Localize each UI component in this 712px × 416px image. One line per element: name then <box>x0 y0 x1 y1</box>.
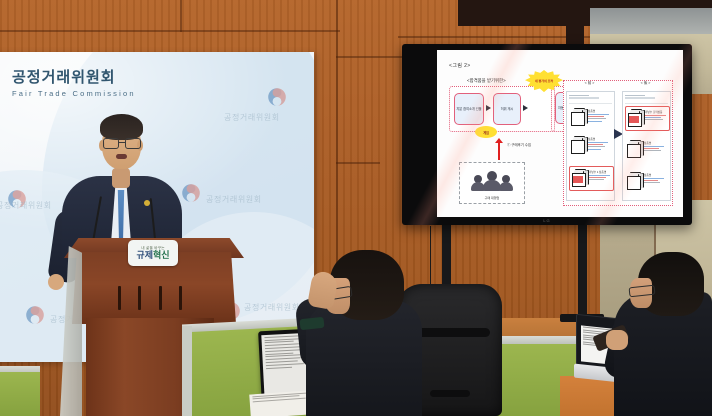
after-panel: 리뷰수 조작상품 상품명 상품명 <box>622 91 671 201</box>
glasses-icon <box>103 138 140 148</box>
product-row-highlighted: 리뷰수 조작상품 <box>625 106 670 131</box>
panel-header <box>569 94 612 104</box>
product-row: 상품명 <box>625 138 668 161</box>
people-group-icon <box>471 171 513 191</box>
placard-main-text: 규제혁신 <box>136 251 169 260</box>
pill-badge: 게임 <box>475 126 497 138</box>
banner-watermark: 공정거래위원회 <box>0 200 52 211</box>
speaker-mouth <box>116 154 127 159</box>
placard-main-a: 규제 <box>136 250 153 260</box>
flow-arrow-icon <box>486 105 491 111</box>
taegeuk-emblem <box>180 182 202 204</box>
product-box-icon <box>627 172 642 188</box>
flow-step-box: 지분 참여소개 선물 <box>454 93 484 125</box>
product-row-highlighted: 리뷰수 1 상품명 <box>569 166 614 191</box>
slide-canvas: <그림 2> <합격품을 받기위한> 지분 참여소개 선물 허위 게시 자동 송… <box>437 50 683 217</box>
taegeuk-emblem <box>24 304 46 326</box>
desk-post <box>182 326 192 416</box>
product-box-icon <box>571 108 586 124</box>
product-text: 상품명 <box>644 173 667 185</box>
product-text: 상품명 <box>588 137 611 151</box>
before-panel: 상품명 상품명 리뷰수 1 상품명 <box>566 91 615 201</box>
slide-figure-label: <그림 2> <box>449 62 471 69</box>
banner-title-en: Fair Trade Commission <box>12 89 136 98</box>
comparison-group: < 前 > < 後 > 상품명 상품명 리뷰수 1 상품명 <box>563 80 673 206</box>
desk-partition <box>0 372 40 416</box>
people-caption: 구매 대행업 <box>460 196 524 200</box>
before-label: < 前 > <box>566 81 613 86</box>
tv-stand-leg <box>578 224 587 320</box>
wall-seam <box>180 0 182 32</box>
glasses-lens <box>103 138 119 149</box>
wall-seam <box>336 56 402 58</box>
panel-header <box>625 94 668 104</box>
buyer-group-box: 구매 대행업 <box>459 162 525 204</box>
wall-seam <box>0 30 340 32</box>
flow-step-box: 허위 게시 <box>493 93 521 125</box>
product-row: 상품명 <box>625 170 668 193</box>
product-box-icon <box>571 136 586 152</box>
chair-lever <box>430 390 470 397</box>
reporter-hand <box>606 330 628 350</box>
product-text: 리뷰수 조작상품 <box>645 110 668 122</box>
product-box-icon <box>628 109 643 125</box>
after-label: < 後 > <box>622 81 669 86</box>
product-box-icon <box>627 140 642 156</box>
tv-brand-logo: LG <box>543 218 550 223</box>
press-briefing-photo: 공정거래위원회 Fair Trade Commission 공정거래위원회 공정… <box>0 0 712 416</box>
banner-watermark: 공정거래위원회 <box>224 112 280 123</box>
podium-vents <box>118 286 182 310</box>
ceiling-beam <box>566 0 584 44</box>
speaker-hand <box>48 274 64 290</box>
speaker-neck <box>112 168 130 188</box>
placard-main-b: 혁신 <box>153 250 170 260</box>
glasses-bridge <box>118 142 125 143</box>
banner-watermark: 공정거래위원회 <box>244 302 300 313</box>
presentation-tv: <그림 2> <합격품을 받기위한> 지분 참여소개 선물 허위 게시 자동 송… <box>402 44 692 225</box>
speaker-hair <box>100 114 143 140</box>
flow-group: 지분 참여소개 선물 허위 게시 <box>449 86 555 132</box>
banner-watermark: 공정거래위원회 <box>206 194 262 205</box>
taegeuk-emblem <box>266 86 288 108</box>
flow-header-label: <합격품을 받기위한> <box>467 78 506 84</box>
product-box-icon <box>572 169 587 185</box>
flow-arrow-icon <box>523 105 528 111</box>
glasses-lens <box>125 138 141 149</box>
product-row: 상품명 <box>569 134 612 157</box>
up-arrow-icon <box>498 142 500 160</box>
flow-note-text: ① 구매후기 수집 <box>507 142 531 147</box>
product-text: 상품명 <box>588 109 611 123</box>
product-text: 리뷰수 1 상품명 <box>589 170 612 182</box>
banner-title-kr: 공정거래위원회 <box>12 66 136 87</box>
banner-title: 공정거래위원회 Fair Trade Commission <box>12 66 136 98</box>
product-row: 상품명 <box>569 106 612 129</box>
product-text: 상품명 <box>644 141 667 153</box>
podium-placard: 내 삶을 바꾸는 규제혁신 <box>128 240 178 266</box>
wall-seam <box>336 162 380 164</box>
